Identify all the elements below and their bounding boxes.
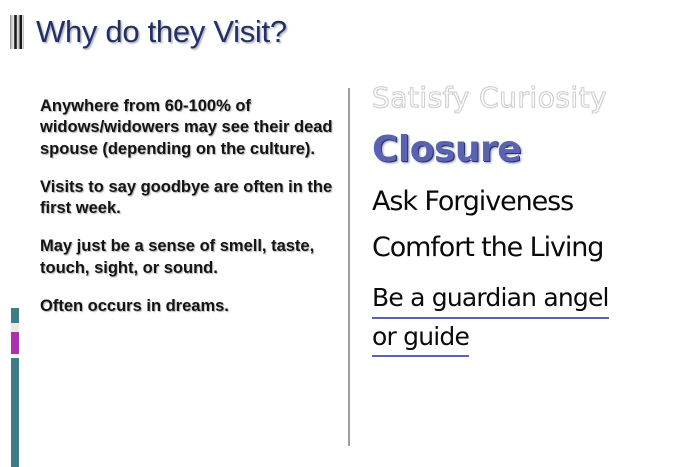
reason-guardian-angel: Be a guardian angel or guide bbox=[372, 280, 692, 357]
page-title: Why do they Visit? bbox=[36, 14, 287, 50]
bullet-item: May just be a sense of smell, taste, tou… bbox=[40, 236, 340, 279]
left-accent-bar bbox=[11, 308, 19, 467]
accent-segment-purple bbox=[11, 332, 19, 354]
slide-title-row: Why do they Visit? bbox=[10, 14, 287, 50]
accent-segment-teal-top bbox=[11, 308, 19, 323]
reason-guardian-angel-line2: or guide bbox=[372, 319, 469, 358]
column-divider bbox=[348, 88, 350, 446]
slide-canvas: Why do they Visit? Anywhere from 60-100%… bbox=[0, 0, 700, 467]
reason-comfort-the-living: Comfort the Living bbox=[372, 234, 692, 262]
bullet-item: Often occurs in dreams. bbox=[40, 296, 340, 317]
bullet-item: Anywhere from 60-100% of widows/widowers… bbox=[40, 96, 340, 160]
left-column: Anywhere from 60-100% of widows/widowers… bbox=[40, 96, 340, 317]
reason-closure: Closure bbox=[372, 132, 692, 168]
right-column: Satisfy Curiosity Closure Ask Forgivenes… bbox=[372, 84, 692, 357]
bullet-item: Visits to say goodbye are often in the f… bbox=[40, 177, 340, 220]
pillar-bars-icon bbox=[10, 15, 24, 49]
accent-segment-gap-upper bbox=[11, 323, 19, 332]
reason-guardian-angel-line1: Be a guardian angel bbox=[372, 280, 609, 319]
reason-satisfy-curiosity: Satisfy Curiosity bbox=[372, 84, 692, 112]
reason-ask-forgiveness: Ask Forgiveness bbox=[372, 188, 692, 216]
accent-segment-teal-main bbox=[11, 358, 19, 467]
